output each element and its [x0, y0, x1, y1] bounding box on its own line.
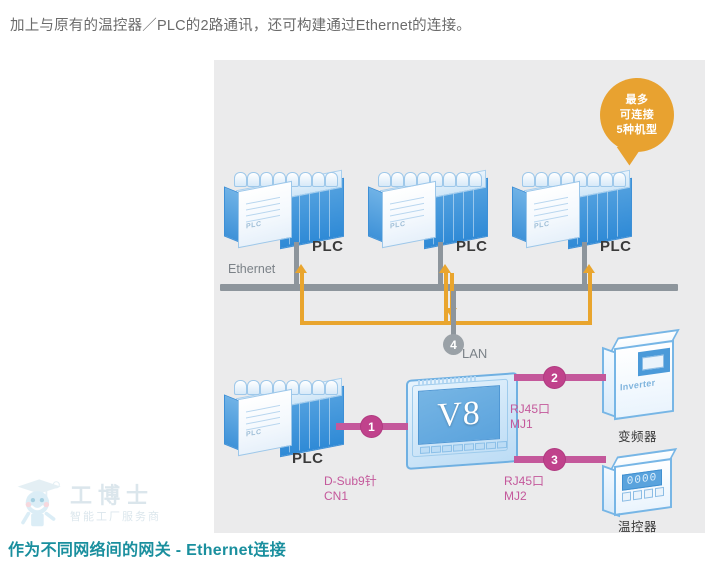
callout-line-2: 可连接 [620, 108, 655, 123]
callout-line-1: 最多 [626, 93, 649, 108]
orange-line-up-2 [444, 273, 448, 325]
watermark-brand: 工博士 [70, 478, 154, 510]
plc-device-top-2: PLC [366, 170, 488, 248]
callout-line-3: 5种机型 [616, 123, 657, 138]
port-mj1-line2: MJ1 [510, 417, 550, 432]
watermark-tagline: 智能工厂服务商 [70, 508, 161, 524]
port-mj2-line1: RJ45口 [504, 474, 544, 489]
lan-label: LAN [462, 346, 487, 361]
orange-line-up-1 [300, 273, 304, 325]
port-label-rj45-mj2: RJ45口 MJ2 [504, 474, 544, 504]
plc-device-bottom: PLC [222, 378, 344, 456]
hmi-screen-text: V8 [437, 394, 481, 435]
callout-bubble-max-models: 最多 可连接 5种机型 [600, 78, 674, 152]
hmi-panel-v8[interactable]: V8 [402, 370, 518, 466]
plc-label-top-3: PLC [600, 238, 632, 255]
figure-caption: 作为不同网络间的网关 - Ethernet连接 [8, 536, 286, 560]
ethernet-bus-line [220, 284, 678, 291]
device-label-tempctrl: 温控器 [618, 516, 657, 533]
plc-label-top-1: PLC [312, 238, 344, 255]
port-label-dsub9: D-Sub9针 CN1 [324, 474, 377, 504]
hmi-screen: V8 [418, 385, 500, 445]
device-label-inverter: 变频器 [618, 426, 657, 445]
port-dsub9-line2: CN1 [324, 489, 377, 504]
intro-description: 加上与原有的温控器／PLC的2路通讯，还可构建通过Ethernet的连接。 [10, 14, 710, 35]
badge-3[interactable]: 3 [544, 449, 565, 470]
orange-line-horizontal [300, 321, 592, 325]
badge-2[interactable]: 2 [544, 367, 565, 388]
device-temperature-controller: 0000 [600, 452, 682, 524]
orange-arrow-up-2-icon [439, 264, 451, 273]
plc-label-top-2: PLC [456, 238, 488, 255]
port-mj2-line2: MJ2 [504, 489, 544, 504]
badge-4[interactable]: 4 [443, 334, 464, 355]
ethernet-label: Ethernet [228, 262, 275, 276]
orange-line-up-3 [588, 273, 592, 325]
callout-tail-icon [617, 143, 648, 167]
network-diagram-panel: 最多 可连接 5种机型 PLC PLC [214, 60, 705, 533]
device-inverter: Inverter [600, 332, 686, 424]
mascot-logo-icon [14, 474, 68, 528]
port-label-rj45-mj1: RJ45口 MJ1 [510, 402, 550, 432]
plc-label-bottom: PLC [292, 450, 324, 467]
plc-device-top-3: PLC [510, 170, 632, 248]
port-dsub9-line1: D-Sub9针 [324, 474, 377, 489]
watermark: 工博士 智能工厂服务商 [6, 470, 186, 532]
orange-arrow-up-3-icon [583, 264, 595, 273]
orange-arrow-up-1-icon [295, 264, 307, 273]
port-mj1-line1: RJ45口 [510, 402, 550, 417]
plc-device-top-1: PLC [222, 170, 344, 248]
badge-1[interactable]: 1 [361, 416, 382, 437]
